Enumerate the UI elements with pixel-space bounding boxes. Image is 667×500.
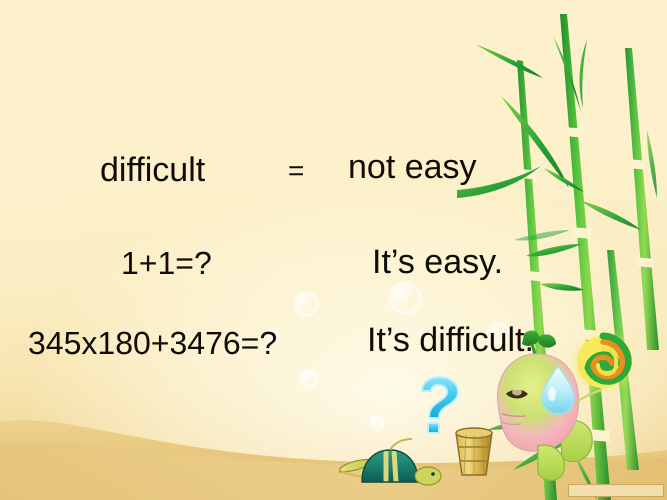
slide-canvas: difficult = not easy 1+1=? It’s easy. 34… bbox=[0, 0, 667, 500]
bubble-decoration bbox=[389, 282, 421, 314]
question-hard-sum: 345x180+3476=? bbox=[28, 325, 277, 362]
lollipop-illustration bbox=[566, 325, 640, 399]
question-simple-sum: 1+1=? bbox=[121, 245, 212, 282]
footer-bar bbox=[568, 484, 664, 497]
bubble-decoration bbox=[300, 370, 318, 388]
equals-sign: = bbox=[288, 155, 304, 187]
bubble-decoration bbox=[294, 292, 318, 316]
turtle-illustration bbox=[338, 428, 442, 490]
answer-its-easy: It’s easy. bbox=[372, 243, 503, 282]
term-difficult: difficult bbox=[100, 151, 205, 190]
definition-not-easy: not easy bbox=[348, 148, 477, 187]
